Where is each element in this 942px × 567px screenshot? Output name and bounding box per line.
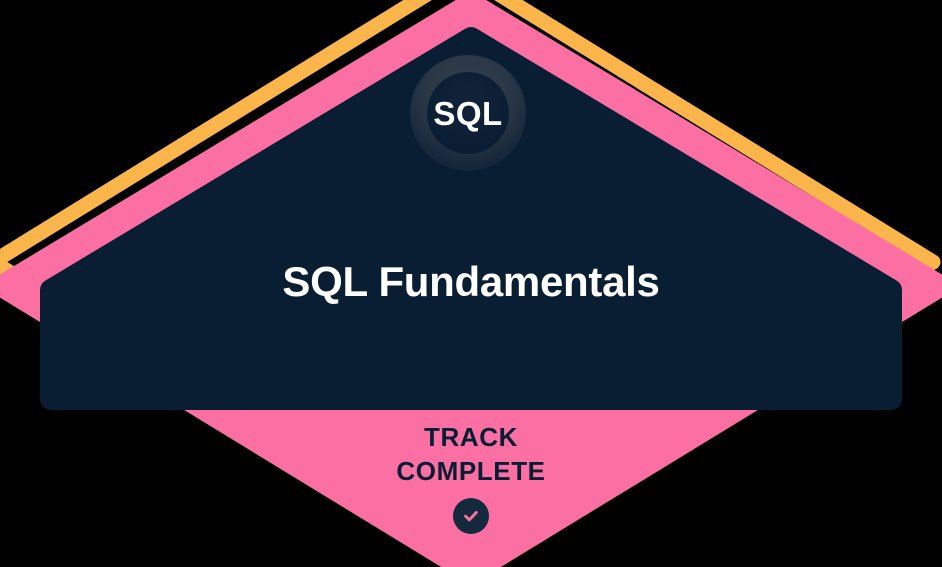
status-check-badge (453, 498, 489, 534)
check-mark-icon (461, 506, 481, 526)
track-status-block: TRACK COMPLETE (0, 420, 942, 534)
status-line-secondary: COMPLETE (0, 454, 942, 488)
sql-emblem: SQL (410, 55, 526, 171)
sql-emblem-label: SQL (433, 97, 502, 130)
track-badge-card: SQL SQL Fundamentals TRACK COMPLETE (0, 0, 942, 567)
track-title: SQL Fundamentals (0, 258, 942, 306)
status-check-wrap (0, 498, 942, 534)
status-line-primary: TRACK (0, 420, 942, 454)
